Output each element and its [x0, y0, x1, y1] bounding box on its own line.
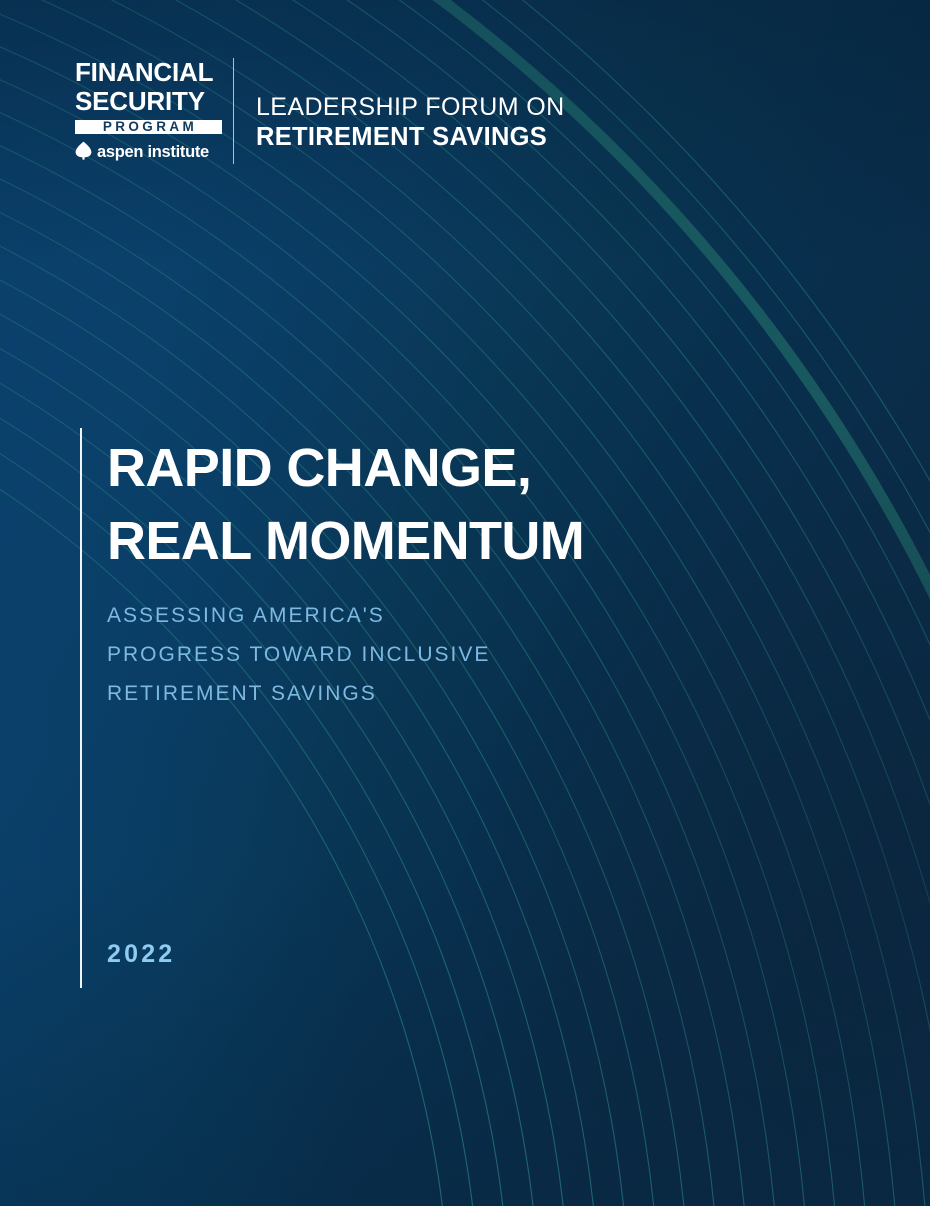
title-left-rule — [80, 428, 82, 988]
subtitle-line-1: ASSESSING AMERICA'S — [107, 596, 747, 635]
aspen-institute-lockup: aspen institute — [75, 141, 223, 165]
page-subtitle: ASSESSING AMERICA'S PROGRESS TOWARD INCL… — [107, 596, 747, 713]
page-title: RAPID CHANGE, REAL MOMENTUM — [107, 432, 807, 578]
forum-title-block: LEADERSHIP FORUM ON RETIREMENT SAVINGS — [234, 56, 565, 164]
publication-year: 2022 — [107, 942, 175, 967]
subtitle-line-3: RETIREMENT SAVINGS — [107, 674, 747, 713]
title-line-1: RAPID CHANGE, — [107, 432, 807, 505]
forum-line-1: LEADERSHIP FORUM ON — [256, 93, 565, 122]
financial-security-program-logo: FINANCIAL SECURITY PROGRAM aspen institu… — [75, 56, 223, 164]
logo-program-text: PROGRAM — [100, 120, 197, 134]
logo-line-security: SECURITY — [75, 89, 223, 114]
title-line-2: REAL MOMENTUM — [107, 505, 807, 578]
cover-header: FINANCIAL SECURITY PROGRAM aspen institu… — [75, 56, 565, 164]
leaf-icon — [75, 141, 92, 165]
subtitle-line-2: PROGRESS TOWARD INCLUSIVE — [107, 635, 747, 674]
aspen-institute-text: aspen institute — [97, 144, 209, 161]
logo-line-financial: FINANCIAL — [75, 60, 223, 85]
forum-line-2: RETIREMENT SAVINGS — [256, 122, 565, 152]
report-cover-page: FINANCIAL SECURITY PROGRAM aspen institu… — [0, 0, 930, 1206]
logo-program-bar: PROGRAM — [75, 120, 222, 134]
